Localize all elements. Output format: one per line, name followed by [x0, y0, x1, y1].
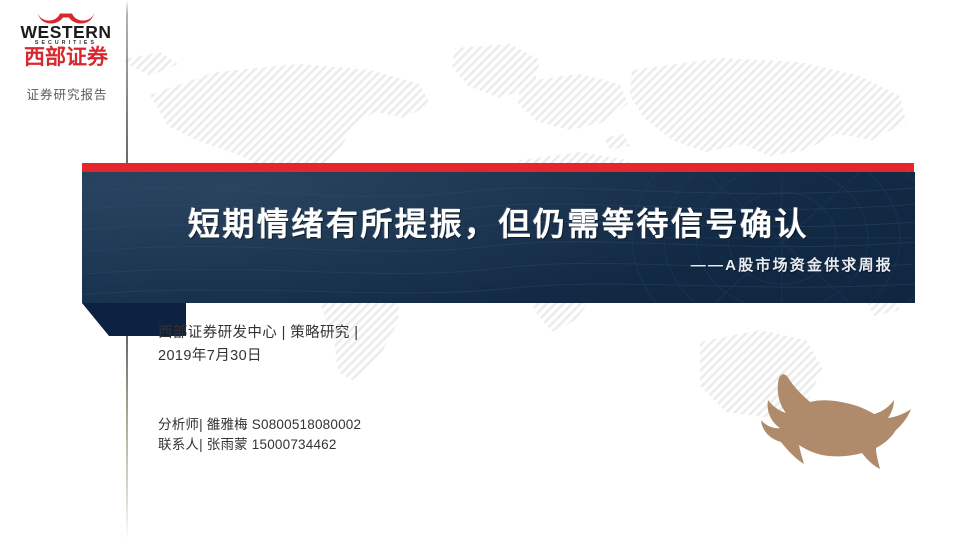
department-label: 西部证券研发中心 | 策略研究 | — [158, 322, 358, 345]
title-slide: WESTERN SECURITIES 西部证券 证券研究报告 — [0, 0, 960, 540]
company-logo: WESTERN SECURITIES 西部证券 证券研究报告 — [12, 10, 120, 58]
date-label: 2019年7月30日 — [158, 345, 358, 368]
logo-mark: WESTERN SECURITIES 西部证券 — [12, 10, 120, 58]
page-title: 短期情绪有所提振，但仍需等待信号确认 — [82, 199, 915, 245]
report-kind-label: 证券研究报告 — [12, 84, 122, 103]
people-block: 分析师| 雒雅梅 S0800518080002 联系人| 张雨蒙 1500073… — [158, 415, 361, 455]
logo-chinese-name: 西部证券 — [12, 46, 120, 70]
bull-head-icon — [716, 365, 916, 470]
logo-latin-name: WESTERN — [12, 22, 120, 42]
banner-accent-bar — [82, 163, 914, 172]
meta-block: 西部证券研发中心 | 策略研究 | 2019年7月30日 — [158, 322, 358, 368]
analyst-label: 分析师| 雒雅梅 S0800518080002 — [158, 415, 361, 435]
page-subtitle: ——A股市场资金供求周报 — [691, 254, 893, 275]
contact-label: 联系人| 张雨蒙 15000734462 — [158, 435, 361, 455]
title-banner: 短期情绪有所提振，但仍需等待信号确认 ——A股市场资金供求周报 — [82, 172, 915, 303]
